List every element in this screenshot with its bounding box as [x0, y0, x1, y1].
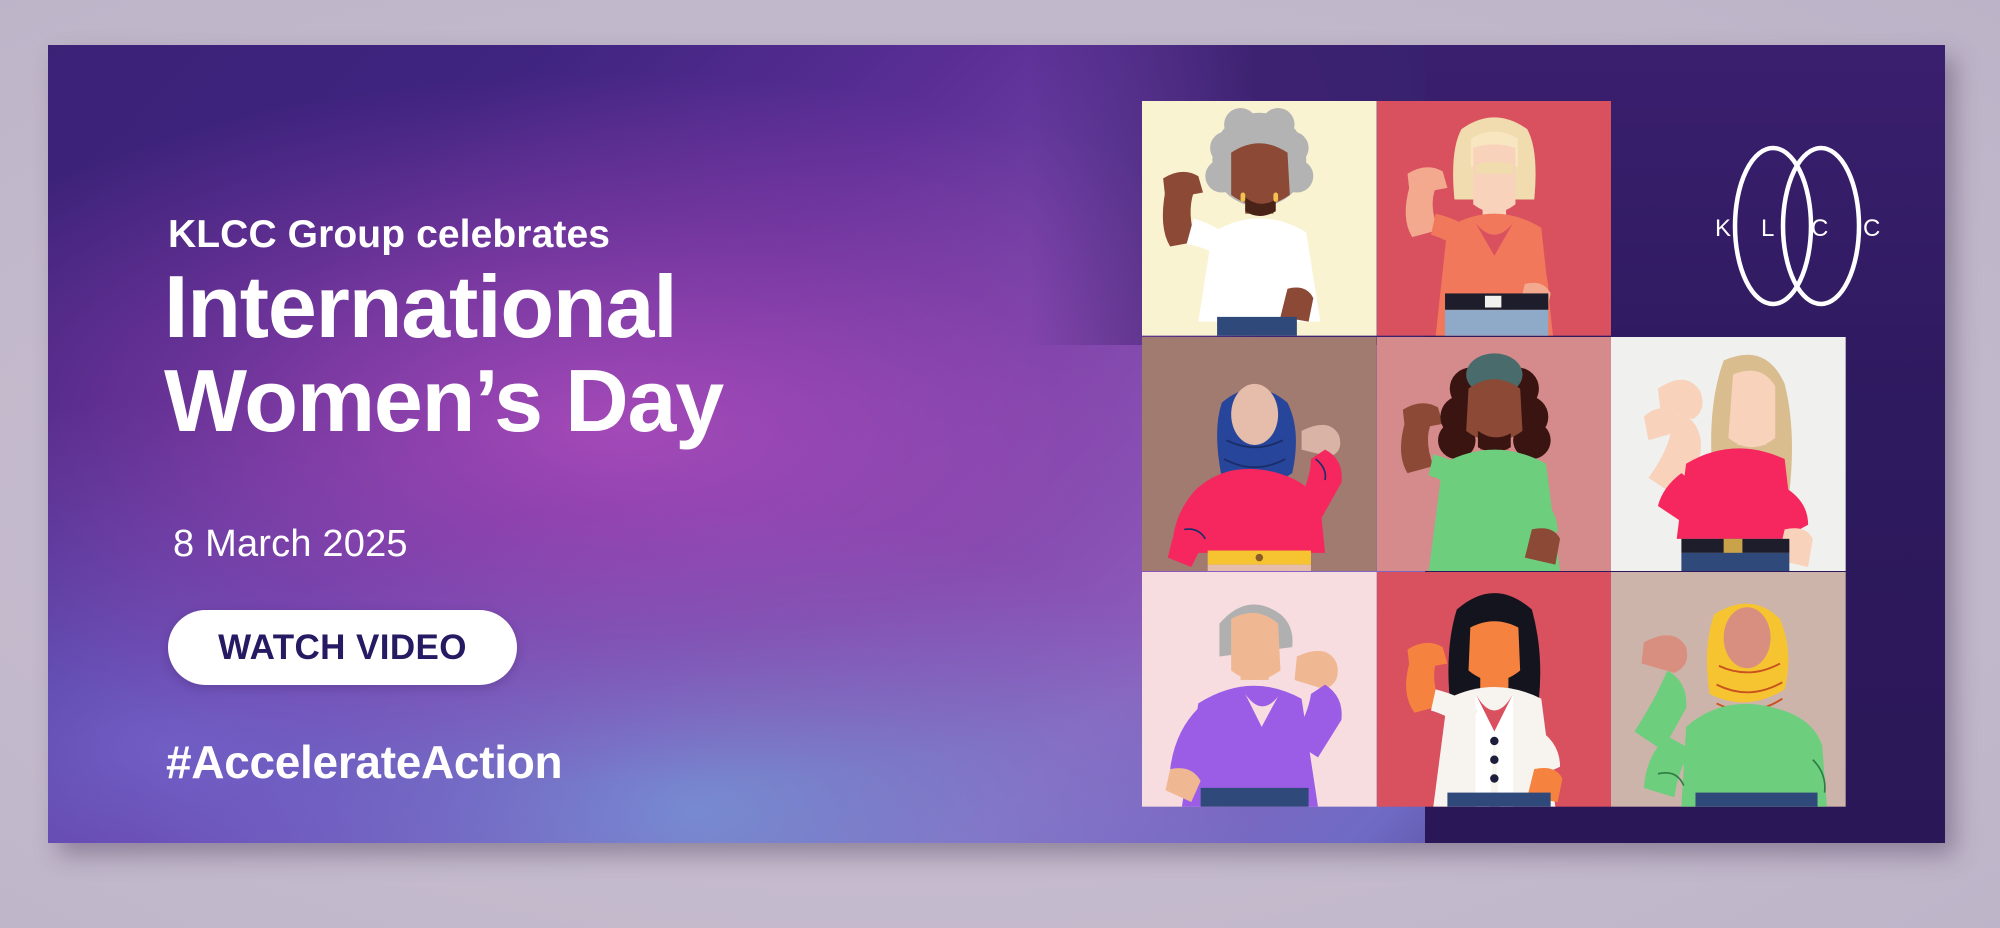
iwd-banner: KLCC Group celebrates International Wome… [48, 45, 1945, 843]
photo-cell-r1c1 [1142, 101, 1377, 337]
photo-cell-r2c1 [1142, 337, 1377, 573]
woman-in-blue-hijab-flexing-icon [1142, 337, 1377, 572]
blonde-woman-in-coral-top-flexing-icon [1377, 101, 1612, 336]
photo-cell-r2c3 [1611, 337, 1846, 573]
klcc-logo[interactable]: K L C C [1693, 121, 1903, 331]
woman-in-yellow-hijab-in-green-top-flexing-icon [1611, 572, 1846, 807]
blonde-woman-in-red-tee-flexing-icon [1611, 337, 1846, 572]
event-date: 8 March 2025 [173, 523, 408, 566]
photo-cell-r3c3 [1611, 572, 1846, 808]
photo-cell-r3c2 [1377, 572, 1612, 808]
svg-text:K: K [1715, 215, 1732, 242]
older-woman-in-purple-top-flexing-icon [1142, 572, 1377, 807]
photo-cell-r3c1 [1142, 572, 1377, 808]
svg-text:C: C [1863, 215, 1881, 242]
woman-with-grey-afro-flexing-icon [1142, 101, 1377, 336]
photo-cell-r1c2 [1377, 101, 1612, 337]
campaign-hashtag: #AccelerateAction [166, 735, 562, 789]
svg-text:L: L [1761, 215, 1775, 242]
svg-text:C: C [1811, 215, 1829, 242]
banner-eyebrow: KLCC Group celebrates [168, 213, 610, 257]
klcc-logo-icon: K L C C [1693, 121, 1903, 331]
watch-video-button[interactable]: WATCH VIDEO [168, 610, 517, 685]
woman-with-black-hair-in-white-shirt-flexing-icon [1377, 572, 1612, 807]
photo-cell-r2c2 [1377, 337, 1612, 573]
page-root: KLCC Group celebrates International Wome… [0, 0, 2000, 928]
page-title: International Women’s Day [164, 260, 723, 448]
woman-with-curly-hair-in-green-top-flexing-icon [1377, 337, 1612, 572]
